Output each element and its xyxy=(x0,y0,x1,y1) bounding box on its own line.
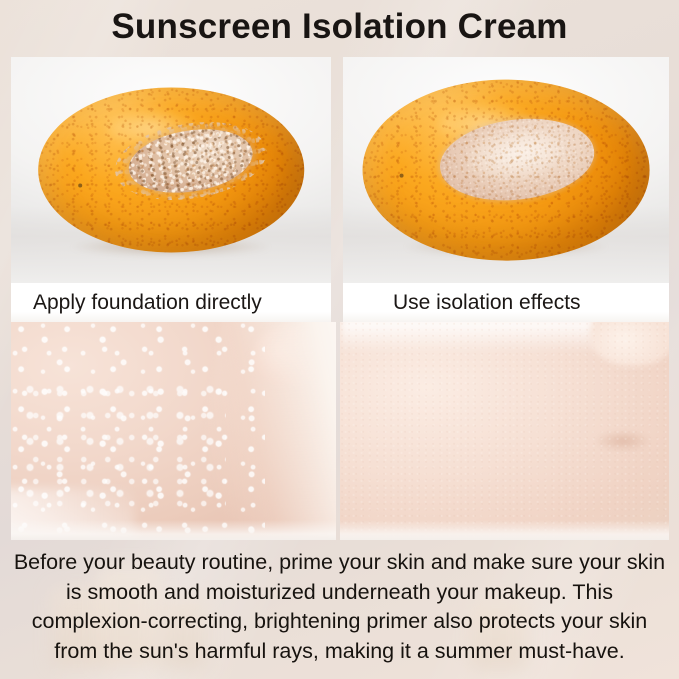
skin-surface-left xyxy=(11,322,336,540)
orange-highlight xyxy=(107,111,197,147)
skin-surface-right xyxy=(340,322,669,540)
swatch-image-beaded-skin xyxy=(11,322,336,540)
caption-text-left: Apply foundation directly xyxy=(11,291,262,315)
orange-fruit-right xyxy=(343,57,669,283)
caption-bar-right: Use isolation effects xyxy=(343,283,669,323)
foundation-patch-uneven xyxy=(124,121,257,201)
orange-blemish xyxy=(400,174,404,178)
orange-fruit-left xyxy=(11,57,331,283)
fine-skin-texture xyxy=(340,322,669,540)
isolation-patch-smooth xyxy=(436,110,599,208)
orange-body xyxy=(363,80,650,261)
orange-body xyxy=(38,88,304,253)
comparison-image-use-isolation-effects xyxy=(343,57,669,283)
orange-highlight xyxy=(437,105,535,145)
swatch-image-smooth-skin xyxy=(340,322,669,540)
comparison-image-apply-foundation-directly xyxy=(11,57,331,283)
orange-blemish xyxy=(78,183,82,187)
page-title: Sunscreen Isolation Cream xyxy=(0,4,679,50)
product-infographic: Sunscreen Isolation Cream Apply f xyxy=(0,0,679,679)
panel-bottom-fade xyxy=(11,520,336,540)
product-description: Before your beauty routine, prime your s… xyxy=(9,548,670,666)
caption-bar-left: Apply foundation directly xyxy=(11,283,331,323)
caption-text-right: Use isolation effects xyxy=(343,291,581,315)
panel-bottom-fade xyxy=(340,520,669,540)
